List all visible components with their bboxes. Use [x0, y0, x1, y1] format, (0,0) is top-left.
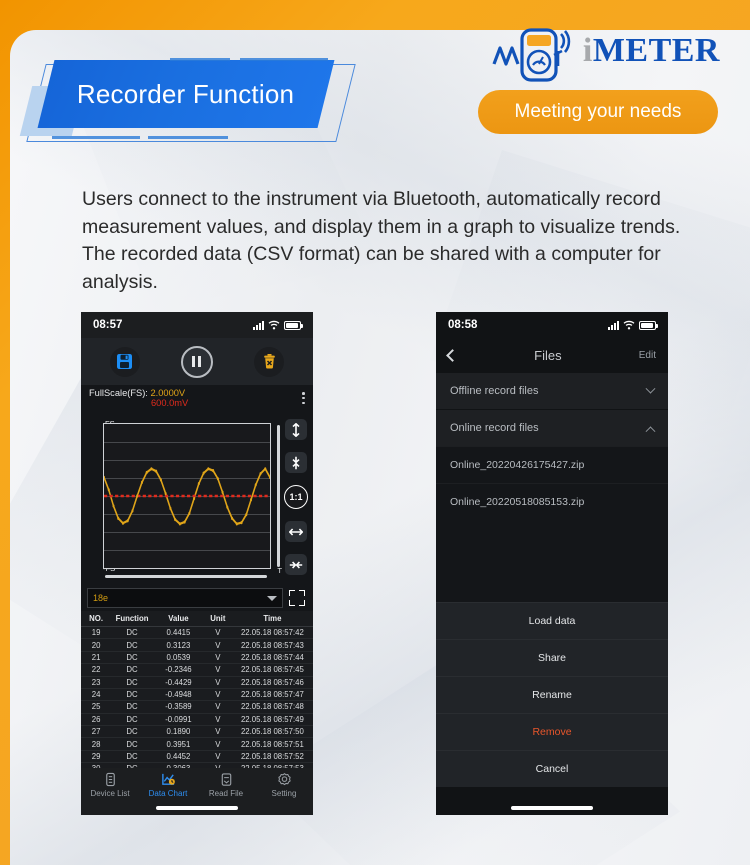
chart-vertical-scrollbar[interactable]	[277, 425, 280, 567]
ratio-label: 1:1	[289, 492, 302, 502]
chevron-down-icon	[267, 596, 277, 601]
fullscale-primary-value: 2.0000V	[151, 388, 186, 398]
table-cell-unit: V	[204, 738, 232, 750]
status-bar: 08:58	[436, 312, 668, 338]
tab-setting[interactable]: Setting	[255, 772, 313, 798]
group-online-record-files[interactable]: Online record files	[436, 409, 668, 446]
table-cell-no: 26	[81, 713, 111, 725]
expand-horizontal-button[interactable]	[285, 521, 307, 542]
action-cancel[interactable]: Cancel	[436, 750, 668, 787]
table-cell-function: DC	[111, 651, 153, 663]
table-cell-unit: V	[204, 713, 232, 725]
table-cell-unit: V	[204, 664, 232, 676]
fullscale-secondary-value: 600.0mV	[151, 398, 188, 408]
table-cell-unit: V	[204, 627, 232, 639]
chart-series-svg	[104, 424, 270, 568]
chevron-down-icon	[646, 383, 656, 393]
status-bar: 08:57	[81, 312, 313, 338]
group-label-offline: Offline record files	[450, 385, 538, 397]
record-dropdown-value: 18e	[93, 593, 108, 603]
banner-plate: Recorder Function	[38, 60, 335, 128]
table-row[interactable]: 26DC-0.0991V22.05.18 08:57:49	[81, 713, 313, 725]
home-indicator	[511, 806, 593, 810]
chart-horizontal-scrollbar[interactable]	[105, 575, 267, 578]
column-header-value: Value	[153, 611, 204, 627]
logo-wordmark: iMETER	[583, 32, 720, 70]
expand-vertical-icon	[290, 423, 302, 437]
table-cell-time: 22.05.18 08:57:45	[232, 664, 313, 676]
column-header-function: Function	[111, 611, 153, 627]
battery-icon	[284, 321, 301, 330]
read-file-icon	[219, 772, 234, 787]
action-sheet: Load data Share Rename Remove Cancel	[436, 602, 668, 797]
table-cell-value: -0.0991	[153, 713, 204, 725]
page-title: Files	[534, 348, 561, 363]
file-list-item[interactable]: Online_20220518085153.zip	[436, 483, 668, 520]
cellular-signal-icon	[608, 321, 619, 330]
table-cell-unit: V	[204, 688, 232, 700]
table-cell-value: 0.3123	[153, 639, 204, 651]
tab-label-setting: Setting	[272, 789, 297, 798]
table-cell-time: 22.05.18 08:57:44	[232, 651, 313, 663]
table-cell-time: 22.05.18 08:57:43	[232, 639, 313, 651]
table-cell-unit: V	[204, 639, 232, 651]
table-cell-time: 22.05.18 08:57:50	[232, 726, 313, 738]
expand-vertical-button[interactable]	[285, 419, 307, 440]
tab-read-file[interactable]: Read File	[197, 772, 255, 798]
file-name: Online_20220426175427.zip	[450, 459, 584, 471]
table-cell-time: 22.05.18 08:57:49	[232, 713, 313, 725]
save-icon	[116, 353, 133, 370]
table-cell-function: DC	[111, 688, 153, 700]
reset-ratio-button[interactable]: 1:1	[284, 485, 308, 509]
compress-vertical-button[interactable]	[285, 452, 307, 473]
compress-vertical-icon	[290, 456, 302, 470]
save-button[interactable]	[110, 347, 140, 377]
table-cell-time: 22.05.18 08:57:42	[232, 627, 313, 639]
table-cell-function: DC	[111, 664, 153, 676]
column-header-no: NO.	[81, 611, 111, 627]
table-cell-value: -0.4948	[153, 688, 204, 700]
table-row[interactable]: 24DC-0.4948V22.05.18 08:57:47	[81, 688, 313, 700]
page-title-banner: Recorder Function	[16, 58, 346, 146]
table-cell-no: 24	[81, 688, 111, 700]
tab-device-list[interactable]: Device List	[81, 772, 139, 798]
table-row[interactable]: 27DC0.1890V22.05.18 08:57:50	[81, 726, 313, 738]
compress-horizontal-icon	[289, 559, 303, 571]
table-cell-time: 22.05.18 08:57:46	[232, 676, 313, 688]
page-title: Recorder Function	[77, 79, 294, 110]
table-row[interactable]: 20DC0.3123V22.05.18 08:57:43	[81, 639, 313, 651]
action-share[interactable]: Share	[436, 639, 668, 676]
table-cell-function: DC	[111, 713, 153, 725]
action-remove[interactable]: Remove	[436, 713, 668, 750]
table-cell-no: 22	[81, 664, 111, 676]
column-header-time: Time	[232, 611, 313, 627]
table-cell-function: DC	[111, 750, 153, 762]
battery-icon	[639, 321, 656, 330]
axis-label-time: T	[277, 566, 282, 575]
action-rename[interactable]: Rename	[436, 676, 668, 713]
banner-decoration-line	[170, 58, 230, 61]
more-options-icon[interactable]	[302, 392, 305, 404]
table-cell-function: DC	[111, 627, 153, 639]
table-cell-no: 21	[81, 651, 111, 663]
table-cell-no: 28	[81, 738, 111, 750]
table-cell-no: 20	[81, 639, 111, 651]
compress-horizontal-button[interactable]	[285, 554, 307, 575]
table-cell-function: DC	[111, 639, 153, 651]
tab-label-read-file: Read File	[209, 789, 243, 798]
waveform-chart: FS 0 -FS T	[81, 413, 313, 585]
record-selector-row: 18e	[81, 585, 313, 611]
table-cell-unit: V	[204, 750, 232, 762]
data-chart-icon	[161, 772, 176, 787]
table-cell-unit: V	[204, 701, 232, 713]
recorder-toolbar	[81, 338, 313, 385]
chart-plot-area[interactable]	[103, 423, 271, 569]
trash-icon	[261, 353, 278, 370]
status-time: 08:57	[93, 319, 122, 331]
table-header-row: NO. Function Value Unit Time	[81, 611, 313, 627]
back-icon[interactable]	[446, 349, 459, 362]
group-offline-record-files[interactable]: Offline record files	[436, 372, 668, 409]
tab-label-device-list: Device List	[90, 789, 129, 798]
table-cell-value: 0.4452	[153, 750, 204, 762]
table-cell-function: DC	[111, 738, 153, 750]
table-cell-value: -0.2346	[153, 664, 204, 676]
phone-screenshot-files: 08:58 Files Edit Offline record files On…	[436, 312, 668, 815]
table-cell-function: DC	[111, 676, 153, 688]
tagline-pill: Meeting your needs	[478, 90, 718, 134]
fullscreen-button[interactable]	[287, 588, 307, 608]
table-cell-no: 29	[81, 750, 111, 762]
device-list-icon	[103, 772, 118, 787]
table-cell-value: -0.3589	[153, 701, 204, 713]
tagline-text: Meeting your needs	[515, 101, 682, 123]
fullscale-readout: FullScale(FS): 2.0000V 600.0mV	[81, 385, 313, 413]
table-cell-no: 25	[81, 701, 111, 713]
brand-logo: iMETER Meeting your needs	[470, 26, 720, 141]
table-cell-unit: V	[204, 651, 232, 663]
gear-icon	[277, 772, 292, 787]
group-label-online: Online record files	[450, 422, 539, 434]
table-row[interactable]: 22DC-0.2346V22.05.18 08:57:45	[81, 664, 313, 676]
bottom-tab-bar: Device List Data Chart Read File Setti	[81, 768, 313, 815]
measurement-table: NO. Function Value Unit Time 19DC0.4415V…	[81, 611, 313, 788]
banner-decoration-line	[240, 58, 328, 61]
table-row[interactable]: 23DC-0.4429V22.05.18 08:57:46	[81, 676, 313, 688]
edit-button[interactable]: Edit	[639, 350, 656, 361]
chevron-up-icon	[646, 426, 656, 436]
table-row[interactable]: 21DC0.0539V22.05.18 08:57:44	[81, 651, 313, 663]
expand-horizontal-icon	[289, 526, 303, 538]
phone-screenshot-data-chart: 08:57	[81, 312, 313, 815]
table-cell-time: 22.05.18 08:57:47	[232, 688, 313, 700]
table-cell-no: 27	[81, 726, 111, 738]
cellular-signal-icon	[253, 321, 264, 330]
table-cell-value: 0.3951	[153, 738, 204, 750]
table-cell-value: -0.4429	[153, 676, 204, 688]
home-indicator	[156, 806, 238, 810]
table-row[interactable]: 25DC-0.3589V22.05.18 08:57:48	[81, 701, 313, 713]
pause-button[interactable]	[181, 346, 213, 378]
files-header: Files Edit	[436, 338, 668, 372]
status-time: 08:58	[448, 319, 477, 331]
table-cell-time: 22.05.18 08:57:48	[232, 701, 313, 713]
logo-i-letter: i	[583, 32, 593, 69]
table-cell-value: 0.4415	[153, 627, 204, 639]
table-cell-no: 19	[81, 627, 111, 639]
wifi-icon	[268, 320, 280, 330]
record-dropdown[interactable]: 18e	[87, 588, 283, 608]
file-name: Online_20220518085153.zip	[450, 496, 584, 508]
file-list-item[interactable]: Online_20220426175427.zip	[436, 446, 668, 483]
table-cell-time: 22.05.18 08:57:51	[232, 738, 313, 750]
logo-meter-letters: METER	[593, 32, 720, 69]
feature-description: Users connect to the instrument via Blue…	[82, 186, 702, 297]
table-row[interactable]: 29DC0.4452V22.05.18 08:57:52	[81, 750, 313, 762]
table-cell-value: 0.0539	[153, 651, 204, 663]
table-cell-time: 22.05.18 08:57:52	[232, 750, 313, 762]
table-row[interactable]: 28DC0.3951V22.05.18 08:57:51	[81, 738, 313, 750]
delete-button[interactable]	[254, 347, 284, 377]
table-row[interactable]: 19DC0.4415V22.05.18 08:57:42	[81, 627, 313, 639]
tab-data-chart[interactable]: Data Chart	[139, 772, 197, 798]
banner-decoration-line	[52, 136, 140, 139]
sheet-bottom-gap	[436, 787, 668, 797]
table-cell-function: DC	[111, 726, 153, 738]
file-list-empty-space	[436, 520, 668, 602]
column-header-unit: Unit	[204, 611, 232, 627]
table-cell-function: DC	[111, 701, 153, 713]
action-load-data[interactable]: Load data	[436, 602, 668, 639]
table-cell-unit: V	[204, 676, 232, 688]
tab-label-data-chart: Data Chart	[149, 789, 188, 798]
banner-decoration-line	[148, 136, 228, 139]
wifi-icon	[623, 320, 635, 330]
table-body: 19DC0.4415V22.05.18 08:57:4220DC0.3123V2…	[81, 627, 313, 788]
table-cell-value: 0.1890	[153, 726, 204, 738]
table-cell-unit: V	[204, 726, 232, 738]
fullscale-label: FullScale(FS):	[89, 388, 148, 398]
table-cell-no: 23	[81, 676, 111, 688]
